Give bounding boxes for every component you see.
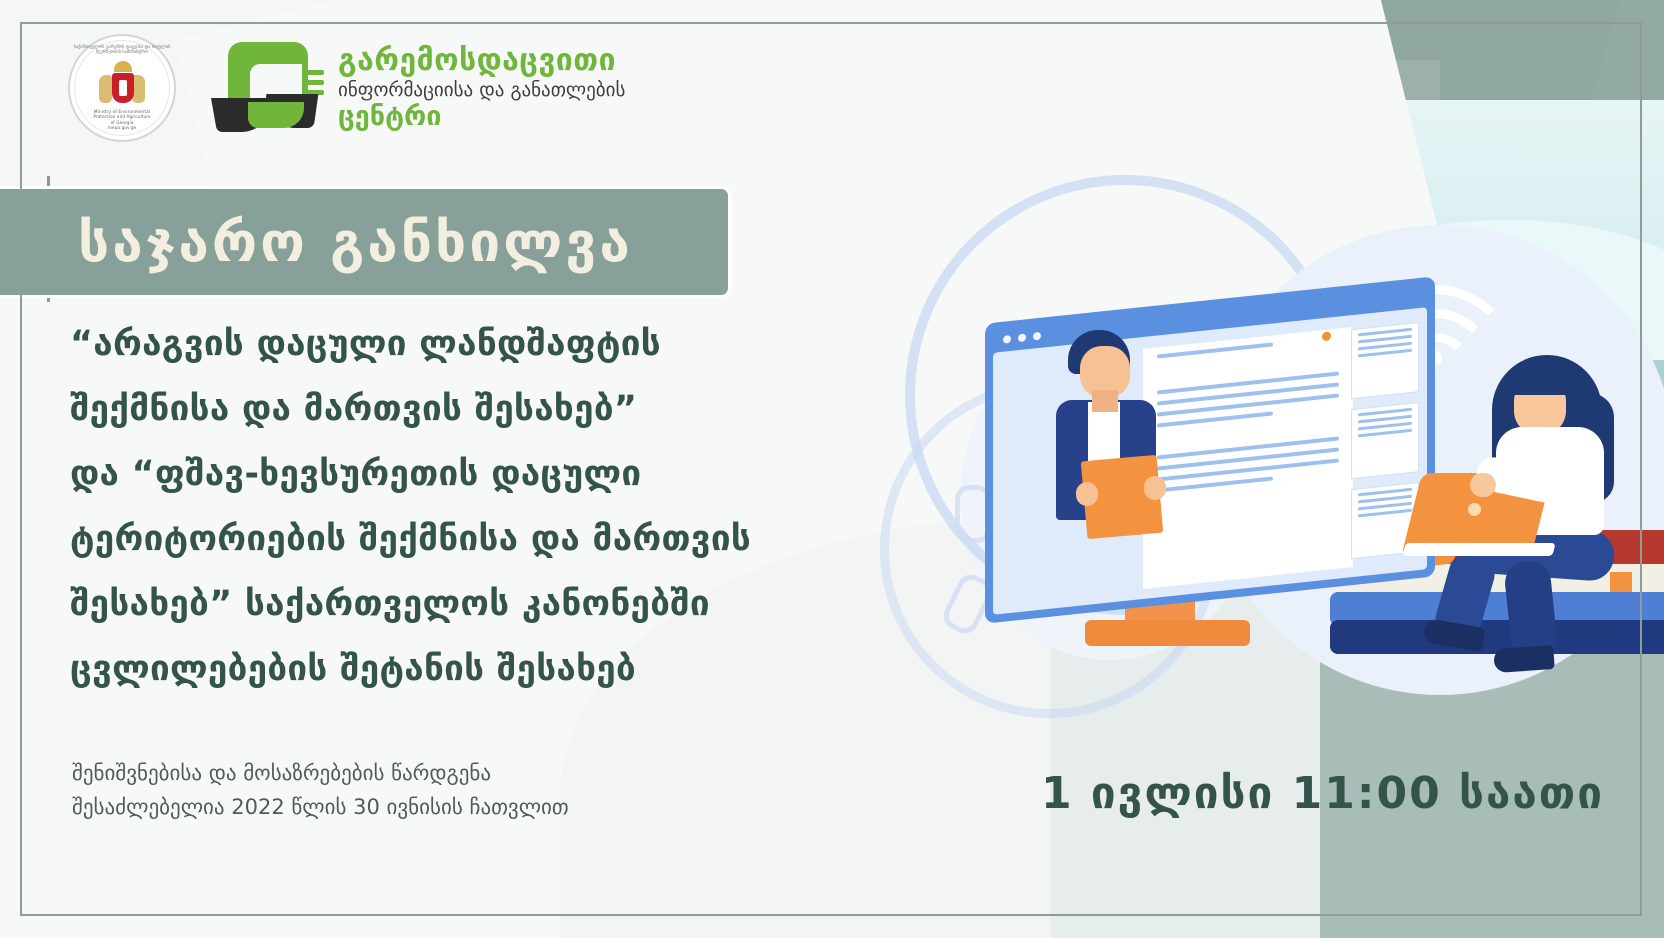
man-hand-left — [1076, 482, 1098, 506]
text-line — [1358, 429, 1412, 438]
header-logos: საქართველოს გარემოს დაცვისა და სოფლის მე… — [68, 34, 625, 142]
man-hand-right — [1144, 476, 1166, 500]
event-datetime: 1 ივლისი 11:00 საათი — [1041, 768, 1604, 819]
body-line-5: შესახებ” საქართველოს კანონებში — [70, 572, 730, 637]
seal-lion-left — [99, 75, 112, 103]
window-dot-close — [1003, 335, 1011, 344]
ceic-text-line3: ცენტრი — [338, 102, 625, 132]
body-line-1: “არაგვის დაცული ლანდშაფტის — [70, 312, 730, 377]
ceic-bar — [302, 70, 324, 75]
ceic-book-green — [248, 102, 304, 128]
seal-crown — [114, 61, 132, 72]
page-title: საჯარო განხილვა — [0, 210, 633, 274]
window-dot-minimize — [1018, 333, 1026, 342]
ceic-logo-text: გარემოსდაცვითი ინფორმაციისა და განათლები… — [338, 44, 625, 132]
poster-canvas: საქართველოს გარემოს დაცვისა და სოფლის მე… — [0, 0, 1664, 938]
laptop-woman — [1430, 355, 1650, 645]
text-line — [1358, 349, 1412, 358]
submission-note: შენიშვნებისა და მოსაზრებების წარდგენა შე… — [72, 756, 712, 824]
laptop-logo-dot — [1468, 503, 1481, 516]
seal-caption: Ministry of Environmental Protection and… — [70, 109, 174, 130]
laptop-keyboard — [1402, 543, 1555, 556]
text-line — [1358, 509, 1412, 518]
ceic-logo-mark — [220, 42, 324, 134]
ceic-logo: გარემოსდაცვითი ინფორმაციისა და განათლები… — [220, 42, 625, 134]
seal-crest — [99, 61, 145, 115]
body-line-4: ტერიტორიების შექმნისა და მართვის — [70, 507, 730, 572]
corner-accent — [0, 828, 110, 938]
ceic-bar — [302, 80, 324, 85]
body-line-2: შექმნისა და მართვის შესახებ” — [70, 377, 730, 442]
body-line-6: ცვლილებების შეტანის შესახებ — [70, 637, 730, 702]
title-banner: საჯარო განხილვა — [0, 186, 731, 298]
monitor-base — [1085, 620, 1250, 646]
ceic-text-line1: გარემოსდაცვითი — [338, 44, 625, 78]
document-card — [1351, 402, 1419, 479]
presenter-man — [1040, 330, 1170, 520]
note-line-2: შესაძლებელია 2022 წლის 30 ივნისის ჩათვლი… — [72, 790, 712, 824]
body-heading: “არაგვის დაცული ლანდშაფტის შექმნისა და მ… — [70, 312, 730, 702]
ceic-text-line2: ინფორმაციისა და განათლების — [338, 80, 625, 101]
seal-arc-text: საქართველოს გარემოს დაცვისა და სოფლის მე… — [70, 45, 174, 55]
seal-shield — [112, 73, 134, 103]
document-page — [1143, 327, 1353, 589]
seal-caption-line4: mepa.gov.ge — [70, 125, 174, 130]
body-line-3: და “ფშავ-ხევსურეთის დაცული — [70, 442, 730, 507]
man-neck — [1092, 390, 1118, 412]
document-card — [1351, 322, 1419, 399]
note-line-1: შენიშვნებისა და მოსაზრებების წარდგენა — [72, 756, 712, 790]
woman-shoe-back — [1493, 645, 1555, 673]
woman-hand — [1470, 473, 1496, 497]
ministry-seal: საქართველოს გარემოს დაცვისა და სოფლის მე… — [68, 34, 176, 142]
